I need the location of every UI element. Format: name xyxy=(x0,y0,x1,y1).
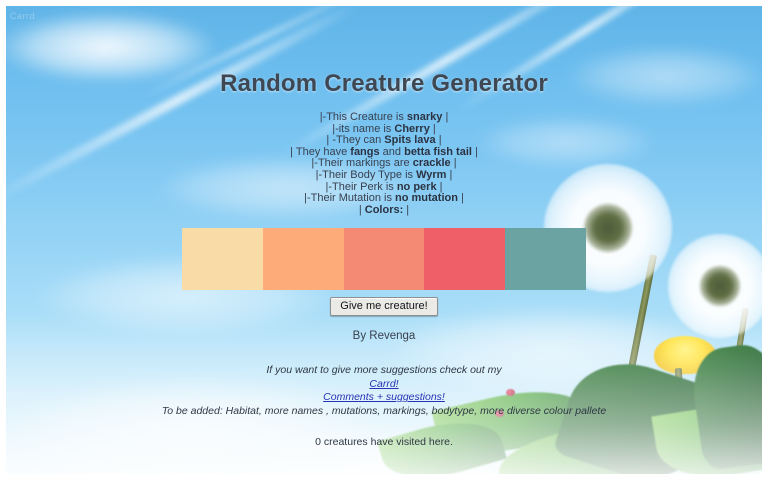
creature-description-list: |-This Creature is snarky ||-its name is… xyxy=(0,112,768,216)
footer-carrd-line: Carrd! xyxy=(0,378,768,392)
creature-line-value: no perk xyxy=(397,181,437,193)
creature-line-suffix: | xyxy=(442,111,448,123)
creature-line-value: Colors: xyxy=(365,204,404,216)
creature-line: | Colors: | xyxy=(0,205,768,217)
creature-line-suffix: | xyxy=(437,181,443,193)
generate-creature-button[interactable]: Give me creature! xyxy=(330,297,437,316)
creature-line-prefix: |-Their Perk is xyxy=(326,181,397,193)
footer-block: If you want to give more suggestions che… xyxy=(0,364,768,418)
creature-line-prefix: | They have xyxy=(290,146,350,158)
page-title: Random Creature Generator xyxy=(0,0,768,98)
carrd-link[interactable]: Carrd! xyxy=(369,378,398,390)
creature-line-suffix: | xyxy=(451,157,457,169)
generate-button-wrap: Give me creature! xyxy=(0,296,768,316)
creature-line-value: snarky xyxy=(407,111,442,123)
comments-suggestions-link[interactable]: Comments + suggestions! xyxy=(323,391,445,403)
creature-line-prefix: |-Their Body Type is xyxy=(316,169,416,181)
creature-line-value: no mutation xyxy=(395,192,458,204)
author-byline: By Revenga xyxy=(0,330,768,342)
color-swatch xyxy=(344,228,425,290)
creature-line-prefix: |-This Creature is xyxy=(320,111,407,123)
creature-line-suffix: | xyxy=(403,204,409,216)
footer-to-be-added: To be added: Habitat, more names , mutat… xyxy=(0,405,768,419)
color-swatch-strip xyxy=(182,228,586,290)
content-column: Random Creature Generator |-This Creatur… xyxy=(0,0,768,480)
creature-line-value: crackle xyxy=(413,157,451,169)
color-swatch xyxy=(424,228,505,290)
color-swatch xyxy=(263,228,344,290)
page-root: Carrd Random Creature Generator |-This C… xyxy=(0,0,768,480)
footer-suggestion-text: If you want to give more suggestions che… xyxy=(0,364,768,378)
creature-line-prefix: |-its name is xyxy=(332,123,394,135)
creature-line-suffix: | xyxy=(430,123,436,135)
creature-line-suffix: | xyxy=(458,192,464,204)
creature-line-prefix: |-Their Mutation is xyxy=(304,192,395,204)
color-swatch xyxy=(505,228,586,290)
creature-line-value: fangs xyxy=(350,146,379,158)
color-swatch xyxy=(182,228,263,290)
creature-line-mid: and xyxy=(380,146,404,158)
creature-line-value-2: betta fish tail xyxy=(404,146,472,158)
creature-line-prefix: | -They can xyxy=(326,134,384,146)
creature-line-suffix: | xyxy=(436,134,442,146)
creature-line-value: Cherry xyxy=(394,123,429,135)
footer-comments-line: Comments + suggestions! xyxy=(0,391,768,405)
creature-line-value: Wyrm xyxy=(416,169,446,181)
creature-line-value: Spits lava xyxy=(384,134,435,146)
creature-line-suffix: | xyxy=(446,169,452,181)
creature-line-suffix: | xyxy=(472,146,478,158)
creature-line-prefix: |-Their markings are xyxy=(311,157,412,169)
visitor-counter: 0 creatures have visited here. xyxy=(0,436,768,448)
